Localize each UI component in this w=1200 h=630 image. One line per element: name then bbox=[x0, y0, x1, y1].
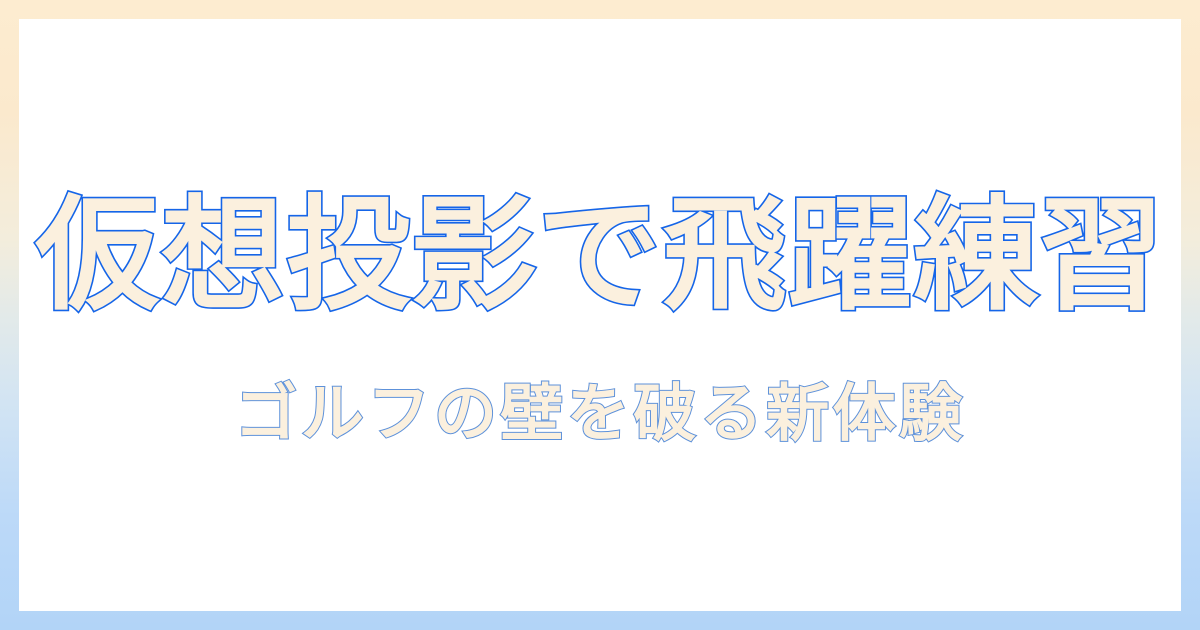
banner-canvas: 仮想投影で飛躍練習 ゴルフの壁を破る新体験 bbox=[0, 0, 1200, 630]
white-content-panel bbox=[19, 19, 1181, 611]
